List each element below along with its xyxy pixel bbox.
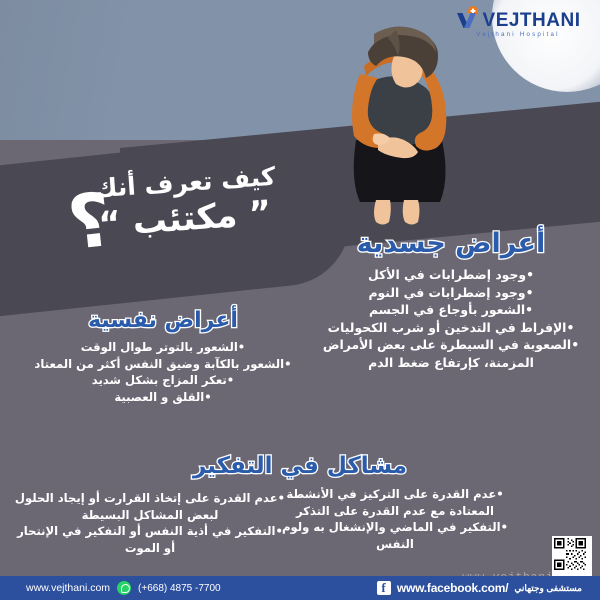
list-item-text: الشعور بأوجاع في الجسم <box>369 302 525 317</box>
qr-code[interactable] <box>552 536 592 576</box>
list-item: •القلق و العصبية <box>8 389 318 406</box>
bullet-icon: • <box>566 319 574 337</box>
footer-website-link[interactable]: www.vejthani.com <box>26 582 110 594</box>
bullet-icon: • <box>525 301 533 319</box>
bullet-icon: • <box>278 490 285 507</box>
list-item-text: التفكير في أذية النفس أو التفكير في الإن… <box>17 524 275 555</box>
list-item-text: الشعور بالكآبة وضيق النفس أكثر من المعتا… <box>34 357 284 371</box>
list-item: •التفكير في أذية النفس أو التفكير في الإ… <box>10 523 290 556</box>
bullet-icon: • <box>526 266 534 284</box>
footer-facebook-link[interactable]: www.facebook.com/ <box>397 581 509 595</box>
list-item-text: تعكر المزاج بشكل شديد <box>92 373 227 387</box>
section-psychological-symptoms: أعراض نفسية •الشعور بالتوتر طوال الوقت •… <box>8 308 318 405</box>
list-item: •عدم القدرة على إتخاذ القرارت أو إيجاد ا… <box>10 490 290 523</box>
depressed-person-illustration <box>312 22 482 227</box>
bullet-icon: • <box>227 372 234 389</box>
footer-bar: www.vejthani.com (+668) 4875 -7700 www.f… <box>0 576 600 600</box>
physical-heading: أعراض جسدية <box>316 228 586 260</box>
thinking-list-left: •عدم القدرة على إتخاذ القرارت أو إيجاد ا… <box>10 490 290 556</box>
list-item-text: الإفراط في التدخين أو شرب الكحوليات <box>328 320 567 335</box>
infographic-page: VEJTHANI Vejthani Hospital <box>0 0 600 600</box>
bullet-icon: • <box>276 523 283 540</box>
main-title: كيف تعرف أنك ” مكتئب “ ؟ <box>40 168 330 238</box>
bullet-icon: • <box>526 284 534 302</box>
bullet-icon: • <box>501 519 508 536</box>
bullet-icon: • <box>284 356 291 373</box>
psychological-heading: أعراض نفسية <box>8 308 318 334</box>
section-thinking-problems-heading: مشاكل في التفكير <box>0 452 600 480</box>
footer-phone: (+668) 4875 -7700 <box>138 583 221 594</box>
list-item: •الإفراط في التدخين أو شرب الكحوليات <box>316 319 586 337</box>
list-item-text: وجود إضطرابات في النوم <box>368 285 525 300</box>
list-item: •تعكر المزاج بشكل شديد <box>8 372 318 389</box>
bullet-icon: • <box>238 339 245 356</box>
thinking-list-right: •عدم القدرة على التركيز في الأنشطة المعت… <box>270 486 520 552</box>
logo-wordmark: VEJTHANI <box>483 12 581 30</box>
physical-list: •وجود إضطرابات في الأكل •وجود إضطرابات ف… <box>316 266 586 371</box>
list-item: •وجود إضطرابات في الأكل <box>316 266 586 284</box>
bullet-icon: • <box>571 336 579 354</box>
question-mark-icon: ؟ <box>65 190 114 254</box>
thinking-right-list: •عدم القدرة على التركيز في الأنشطة المعت… <box>270 486 520 552</box>
list-item-text: عدم القدرة على إتخاذ القرارت أو إيجاد ال… <box>15 491 278 522</box>
psychological-list: •الشعور بالتوتر طوال الوقت •الشعور بالكآ… <box>8 339 318 405</box>
list-item-text: القلق و العصبية <box>114 390 204 404</box>
list-item-text: الشعور بالتوتر طوال الوقت <box>81 340 238 354</box>
list-item-text: الصعوبة في السيطرة على بعض الأمراض المزم… <box>323 337 571 370</box>
list-item: •الشعور بالكآبة وضيق النفس أكثر من المعت… <box>8 356 318 373</box>
footer-left-group: www.vejthani.com (+668) 4875 -7700 <box>0 581 221 595</box>
list-item-text: وجود إضطرابات في الأكل <box>368 267 526 282</box>
list-item: •الصعوبة في السيطرة على بعض الأمراض المز… <box>316 336 586 371</box>
footer-facebook-arabic[interactable]: مستشفى وجتهاني <box>514 583 582 594</box>
thinking-left-list: •عدم القدرة على إتخاذ القرارت أو إيجاد ا… <box>10 490 290 556</box>
list-item: •الشعور بالتوتر طوال الوقت <box>8 339 318 356</box>
list-item: •عدم القدرة على التركيز في الأنشطة المعت… <box>270 486 520 519</box>
thinking-heading: مشاكل في التفكير <box>0 452 600 480</box>
list-item: •التفكير في الماضي والإنشغال به ولوم الن… <box>270 519 520 552</box>
list-item-text: التفكير في الماضي والإنشغال به ولوم النف… <box>282 520 501 551</box>
list-item: •الشعور بأوجاع في الجسم <box>316 301 586 319</box>
footer-right-group: www.facebook.com/ مستشفى وجتهاني <box>377 581 600 595</box>
list-item: •وجود إضطرابات في النوم <box>316 284 586 302</box>
bullet-icon: • <box>204 389 211 406</box>
list-item-text: عدم القدرة على التركيز في الأنشطة المعتا… <box>286 487 496 518</box>
bullet-icon: • <box>496 486 503 503</box>
whatsapp-icon[interactable] <box>117 581 131 595</box>
section-physical-symptoms: أعراض جسدية •وجود إضطرابات في الأكل •وجو… <box>316 228 586 371</box>
facebook-icon[interactable] <box>377 581 391 595</box>
wall-gradient <box>0 0 210 148</box>
